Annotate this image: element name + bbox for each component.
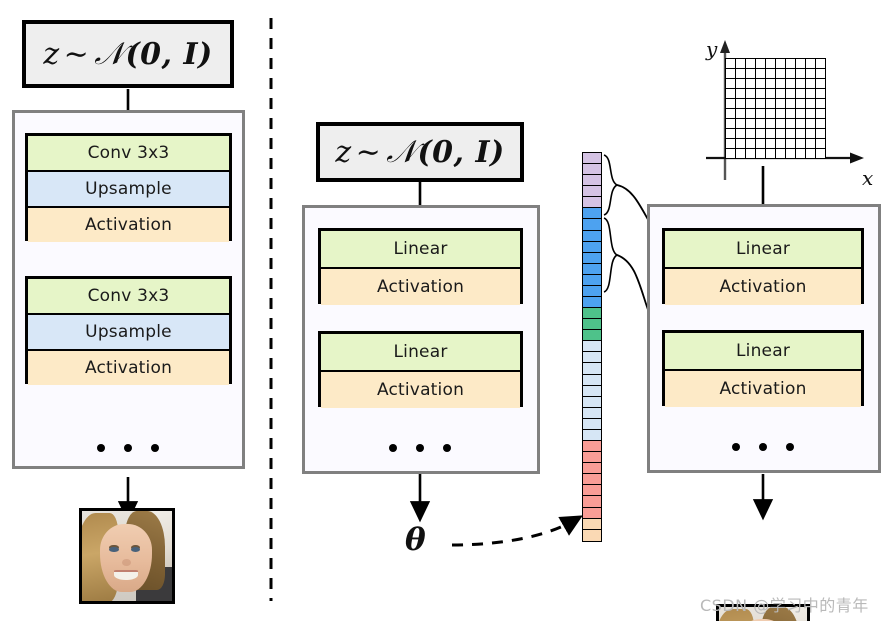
grid-cell bbox=[796, 89, 806, 99]
param-cell bbox=[583, 330, 601, 341]
param-cell bbox=[583, 231, 601, 242]
grid-cell bbox=[726, 59, 736, 69]
grid-cell bbox=[726, 149, 736, 159]
left-latent-box: z∼𝒩(0, I) bbox=[22, 20, 234, 88]
left-latent-formula: z∼𝒩(0, I) bbox=[43, 36, 212, 73]
grid-cell bbox=[816, 129, 826, 139]
param-cell bbox=[583, 474, 601, 485]
grid-cell bbox=[796, 129, 806, 139]
param-cell bbox=[583, 441, 601, 452]
param-cell bbox=[583, 430, 601, 441]
layer-linear[interactable]: Linear bbox=[665, 333, 861, 371]
param-cell bbox=[583, 452, 601, 463]
predicted-weights-vector[interactable] bbox=[582, 152, 602, 542]
grid-cell bbox=[726, 129, 736, 139]
grid-cell bbox=[766, 59, 776, 69]
grid-cell bbox=[766, 149, 776, 159]
layer-linear[interactable]: Linear bbox=[321, 334, 520, 372]
grid-cell bbox=[806, 139, 816, 149]
middle-ellipsis bbox=[389, 444, 451, 452]
param-cell bbox=[583, 253, 601, 264]
grid-cell bbox=[756, 149, 766, 159]
middle-latent-box: z∼𝒩(0, I) bbox=[316, 122, 524, 182]
param-cell bbox=[583, 286, 601, 297]
grid-cell bbox=[756, 139, 766, 149]
middle-block-1: Linear Activation bbox=[318, 228, 523, 304]
grid-cell bbox=[796, 149, 806, 159]
grid-cell bbox=[746, 119, 756, 129]
grid-cell bbox=[806, 109, 816, 119]
figure-canvas: z∼𝒩(0, I) Conv 3x3 Upsample Activation C… bbox=[0, 0, 896, 621]
grid-cell bbox=[746, 79, 756, 89]
grid-cell bbox=[786, 119, 796, 129]
param-cell bbox=[583, 208, 601, 219]
grid-cell bbox=[806, 69, 816, 79]
grid-cell bbox=[746, 139, 756, 149]
param-cell bbox=[583, 463, 601, 474]
theta-to-params-arrow bbox=[452, 521, 573, 545]
param-cell bbox=[583, 219, 601, 230]
brace-lower bbox=[604, 218, 617, 292]
param-cell bbox=[583, 186, 601, 197]
param-cell bbox=[583, 397, 601, 408]
grid-cell bbox=[806, 119, 816, 129]
grid-cell bbox=[746, 69, 756, 79]
layer-activation[interactable]: Activation bbox=[665, 371, 861, 407]
grid-cell bbox=[806, 59, 816, 69]
grid-cell bbox=[766, 109, 776, 119]
layer-activation[interactable]: Activation bbox=[28, 351, 229, 385]
grid-cell bbox=[726, 89, 736, 99]
grid-cell bbox=[816, 99, 826, 109]
grid-cell bbox=[816, 79, 826, 89]
layer-activation[interactable]: Activation bbox=[321, 372, 520, 408]
param-cell bbox=[583, 530, 601, 541]
left-output-face-image bbox=[79, 508, 175, 604]
param-cell bbox=[583, 519, 601, 530]
grid-cell bbox=[746, 129, 756, 139]
grid-cell bbox=[776, 69, 786, 79]
grid-cell bbox=[786, 109, 796, 119]
grid-cell bbox=[816, 149, 826, 159]
param-cell bbox=[583, 242, 601, 253]
xy-coordinate-grid bbox=[690, 30, 880, 180]
right-block-1: Linear Activation bbox=[662, 228, 864, 304]
param-cell bbox=[583, 419, 601, 430]
param-cell bbox=[583, 352, 601, 363]
grid-cell bbox=[786, 89, 796, 99]
grid-cell bbox=[736, 149, 746, 159]
grid-cell bbox=[796, 79, 806, 89]
param-cell bbox=[583, 153, 601, 164]
grid-cell bbox=[796, 69, 806, 79]
grid-cell bbox=[796, 109, 806, 119]
grid-cell bbox=[796, 139, 806, 149]
grid-cell bbox=[786, 129, 796, 139]
grid-cell bbox=[726, 109, 736, 119]
grid-cell bbox=[746, 149, 756, 159]
left-ellipsis bbox=[97, 444, 159, 452]
grid-cell bbox=[736, 89, 746, 99]
grid-cell bbox=[756, 119, 766, 129]
param-cell bbox=[583, 297, 601, 308]
grid-cell bbox=[746, 109, 756, 119]
grid-cell bbox=[786, 149, 796, 159]
grid-cell bbox=[736, 59, 746, 69]
grid-cell bbox=[786, 79, 796, 89]
grid-cell bbox=[806, 129, 816, 139]
left-block-2: Conv 3x3 Upsample Activation bbox=[25, 276, 232, 384]
grid-cell bbox=[776, 59, 786, 69]
grid-cell bbox=[776, 89, 786, 99]
param-cell bbox=[583, 496, 601, 507]
grid-cell bbox=[766, 129, 776, 139]
grid-cell bbox=[746, 99, 756, 109]
grid-cell bbox=[806, 79, 816, 89]
grid-cell bbox=[726, 139, 736, 149]
layer-conv3x3[interactable]: Conv 3x3 bbox=[28, 279, 229, 315]
grid-cell bbox=[776, 119, 786, 129]
param-cell bbox=[583, 386, 601, 397]
grid-cell bbox=[766, 119, 776, 129]
grid-cell bbox=[776, 79, 786, 89]
grid-cells bbox=[725, 58, 826, 159]
grid-cell bbox=[736, 119, 746, 129]
x-axis-label: x bbox=[862, 166, 873, 190]
grid-cell bbox=[786, 69, 796, 79]
param-cell bbox=[583, 319, 601, 330]
y-axis-label: y bbox=[706, 37, 717, 61]
grid-cell bbox=[726, 79, 736, 89]
grid-cell bbox=[756, 99, 766, 109]
param-cell bbox=[583, 363, 601, 374]
grid-cell bbox=[816, 139, 826, 149]
grid-cell bbox=[756, 59, 766, 69]
brace-upper bbox=[604, 155, 617, 215]
grid-cell bbox=[746, 89, 756, 99]
right-block-2: Linear Activation bbox=[662, 330, 864, 406]
grid-cell bbox=[766, 99, 776, 109]
grid-cell bbox=[796, 99, 806, 109]
grid-cell bbox=[736, 99, 746, 109]
grid-cell bbox=[786, 99, 796, 109]
grid-cell bbox=[816, 89, 826, 99]
layer-activation[interactable]: Activation bbox=[321, 269, 520, 305]
grid-cell bbox=[736, 129, 746, 139]
param-cell bbox=[583, 485, 601, 496]
layer-activation[interactable]: Activation bbox=[665, 269, 861, 305]
grid-cell bbox=[736, 109, 746, 119]
grid-cell bbox=[736, 139, 746, 149]
grid-cell bbox=[746, 59, 756, 69]
grid-cell bbox=[726, 69, 736, 79]
grid-cell bbox=[726, 119, 736, 129]
grid-cell bbox=[786, 59, 796, 69]
grid-cell bbox=[806, 149, 816, 159]
param-cell bbox=[583, 275, 601, 286]
grid-cell bbox=[766, 139, 776, 149]
layer-upsample[interactable]: Upsample bbox=[28, 315, 229, 351]
middle-block-2: Linear Activation bbox=[318, 331, 523, 407]
param-cell bbox=[583, 164, 601, 175]
grid-cell bbox=[766, 69, 776, 79]
grid-cell bbox=[776, 139, 786, 149]
grid-cell bbox=[816, 119, 826, 129]
grid-cell bbox=[816, 109, 826, 119]
grid-cell bbox=[776, 129, 786, 139]
right-ellipsis bbox=[732, 443, 794, 451]
grid-cell bbox=[736, 69, 746, 79]
csdn-watermark: CSDN @学习中的青年 bbox=[700, 592, 869, 616]
layer-linear[interactable]: Linear bbox=[665, 231, 861, 269]
param-cell bbox=[583, 175, 601, 186]
layer-upsample[interactable]: Upsample bbox=[28, 172, 229, 208]
grid-cell bbox=[796, 119, 806, 129]
grid-cell bbox=[806, 99, 816, 109]
grid-cell bbox=[776, 99, 786, 109]
param-cell bbox=[583, 508, 601, 519]
grid-cell bbox=[736, 79, 746, 89]
grid-cell bbox=[786, 139, 796, 149]
grid-cell bbox=[796, 59, 806, 69]
layer-linear[interactable]: Linear bbox=[321, 231, 520, 269]
grid-cell bbox=[806, 89, 816, 99]
grid-cell bbox=[816, 69, 826, 79]
grid-cell bbox=[766, 89, 776, 99]
middle-latent-formula: z∼𝒩(0, I) bbox=[335, 134, 504, 171]
param-cell bbox=[583, 197, 601, 208]
param-cell bbox=[583, 408, 601, 419]
grid-cell bbox=[726, 99, 736, 109]
grid-cell bbox=[756, 109, 766, 119]
theta-symbol: θ bbox=[405, 522, 426, 558]
grid-cell bbox=[776, 149, 786, 159]
grid-cell bbox=[756, 79, 766, 89]
grid-cell bbox=[776, 109, 786, 119]
grid-cell bbox=[816, 59, 826, 69]
left-block-1: Conv 3x3 Upsample Activation bbox=[25, 133, 232, 241]
grid-cell bbox=[756, 89, 766, 99]
param-cell bbox=[583, 375, 601, 386]
param-cell bbox=[583, 264, 601, 275]
grid-cell bbox=[766, 79, 776, 89]
param-cell bbox=[583, 308, 601, 319]
grid-cell bbox=[756, 69, 766, 79]
grid-cell bbox=[756, 129, 766, 139]
param-cell bbox=[583, 341, 601, 352]
layer-activation[interactable]: Activation bbox=[28, 208, 229, 242]
layer-conv3x3[interactable]: Conv 3x3 bbox=[28, 136, 229, 172]
